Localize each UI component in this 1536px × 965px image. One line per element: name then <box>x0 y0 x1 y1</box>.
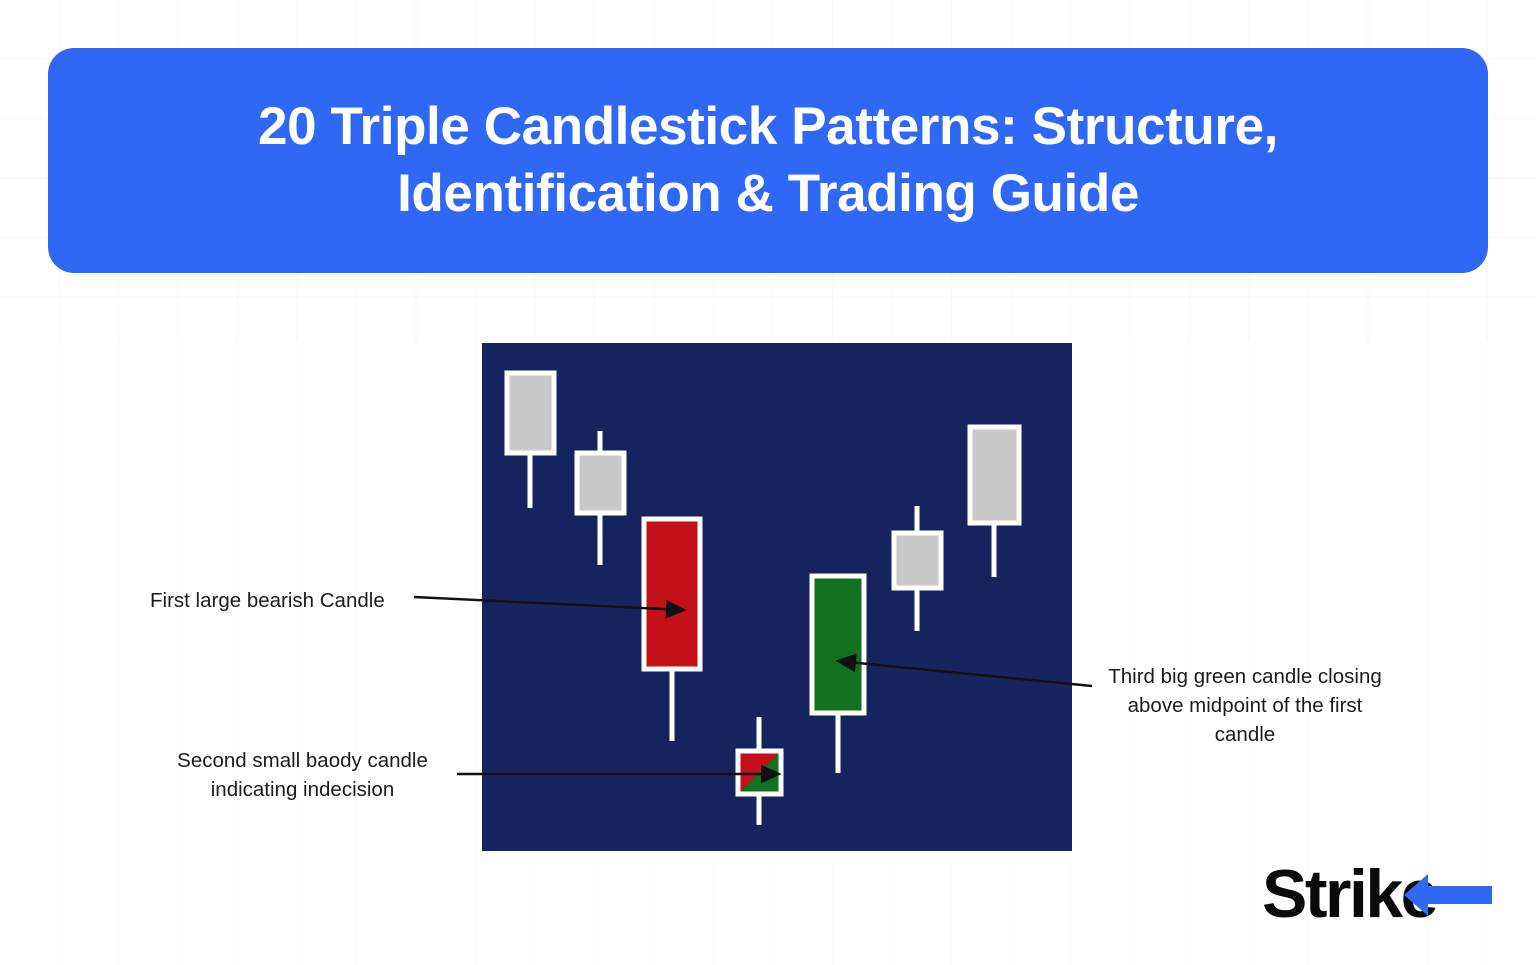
annotation-second-indecision-candle: Second small baody candle indicating ind… <box>150 746 455 804</box>
annotation-1-text: First large bearish Candle <box>150 589 385 612</box>
annotation-third-bullish-candle: Third big green candle closing above mid… <box>1086 662 1404 749</box>
candlestick-chart <box>482 343 1072 851</box>
annotation-first-bearish-candle: First large bearish Candle <box>150 586 420 615</box>
candlestick-chart-panel <box>482 343 1072 851</box>
strike-logo: Strike <box>1262 858 1494 930</box>
candle-7-body <box>970 427 1019 523</box>
candle-3-body <box>644 519 700 669</box>
title-banner: 20 Triple Candlestick Patterns: Structur… <box>48 48 1488 273</box>
annotation-3-line2: above midpoint of the first <box>1086 691 1404 720</box>
candle-1-body <box>507 373 554 453</box>
annotation-2-line2: indicating indecision <box>150 775 455 804</box>
annotation-2-line1: Second small baody candle <box>150 746 455 775</box>
candle-5-body <box>812 576 864 713</box>
candle-4-split-body <box>738 751 781 794</box>
strike-arrow-icon <box>1402 872 1494 918</box>
annotation-3-line3: candle <box>1086 720 1404 749</box>
page-title: 20 Triple Candlestick Patterns: Structur… <box>48 94 1488 227</box>
candle-6-body <box>894 533 941 588</box>
annotation-3-line1: Third big green candle closing <box>1086 662 1404 691</box>
candle-2-body <box>577 453 624 513</box>
